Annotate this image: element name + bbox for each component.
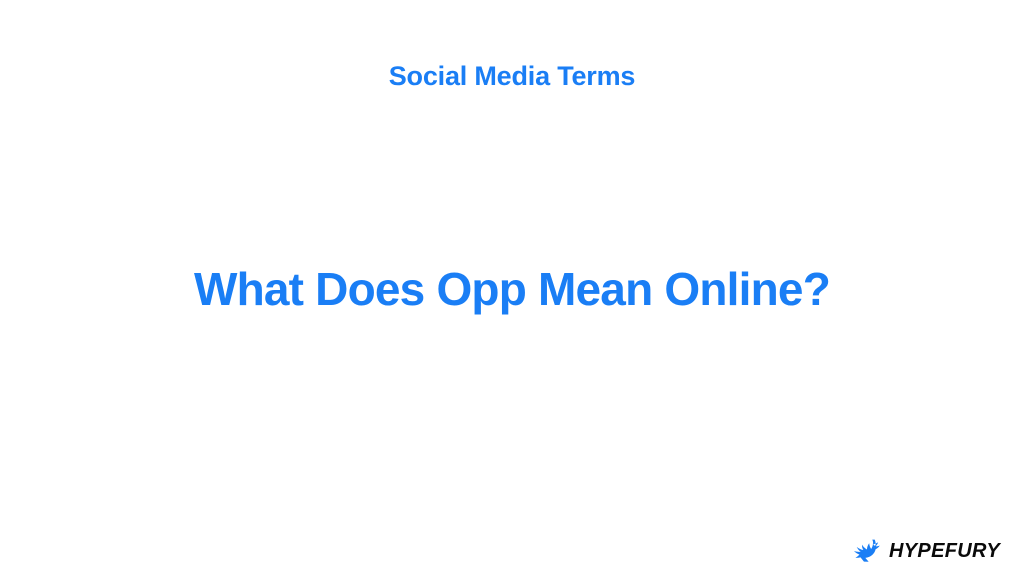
slide-headline: What Does Opp Mean Online? xyxy=(0,258,1024,320)
hypefury-wordmark: HYPEFURY xyxy=(889,540,1000,562)
eagle-bird-icon xyxy=(853,538,883,564)
hypefury-logo: HYPEFURY xyxy=(853,538,1000,564)
slide-eyebrow-title: Social Media Terms xyxy=(0,56,1024,96)
slide-canvas: Social Media Terms What Does Opp Mean On… xyxy=(0,0,1024,576)
